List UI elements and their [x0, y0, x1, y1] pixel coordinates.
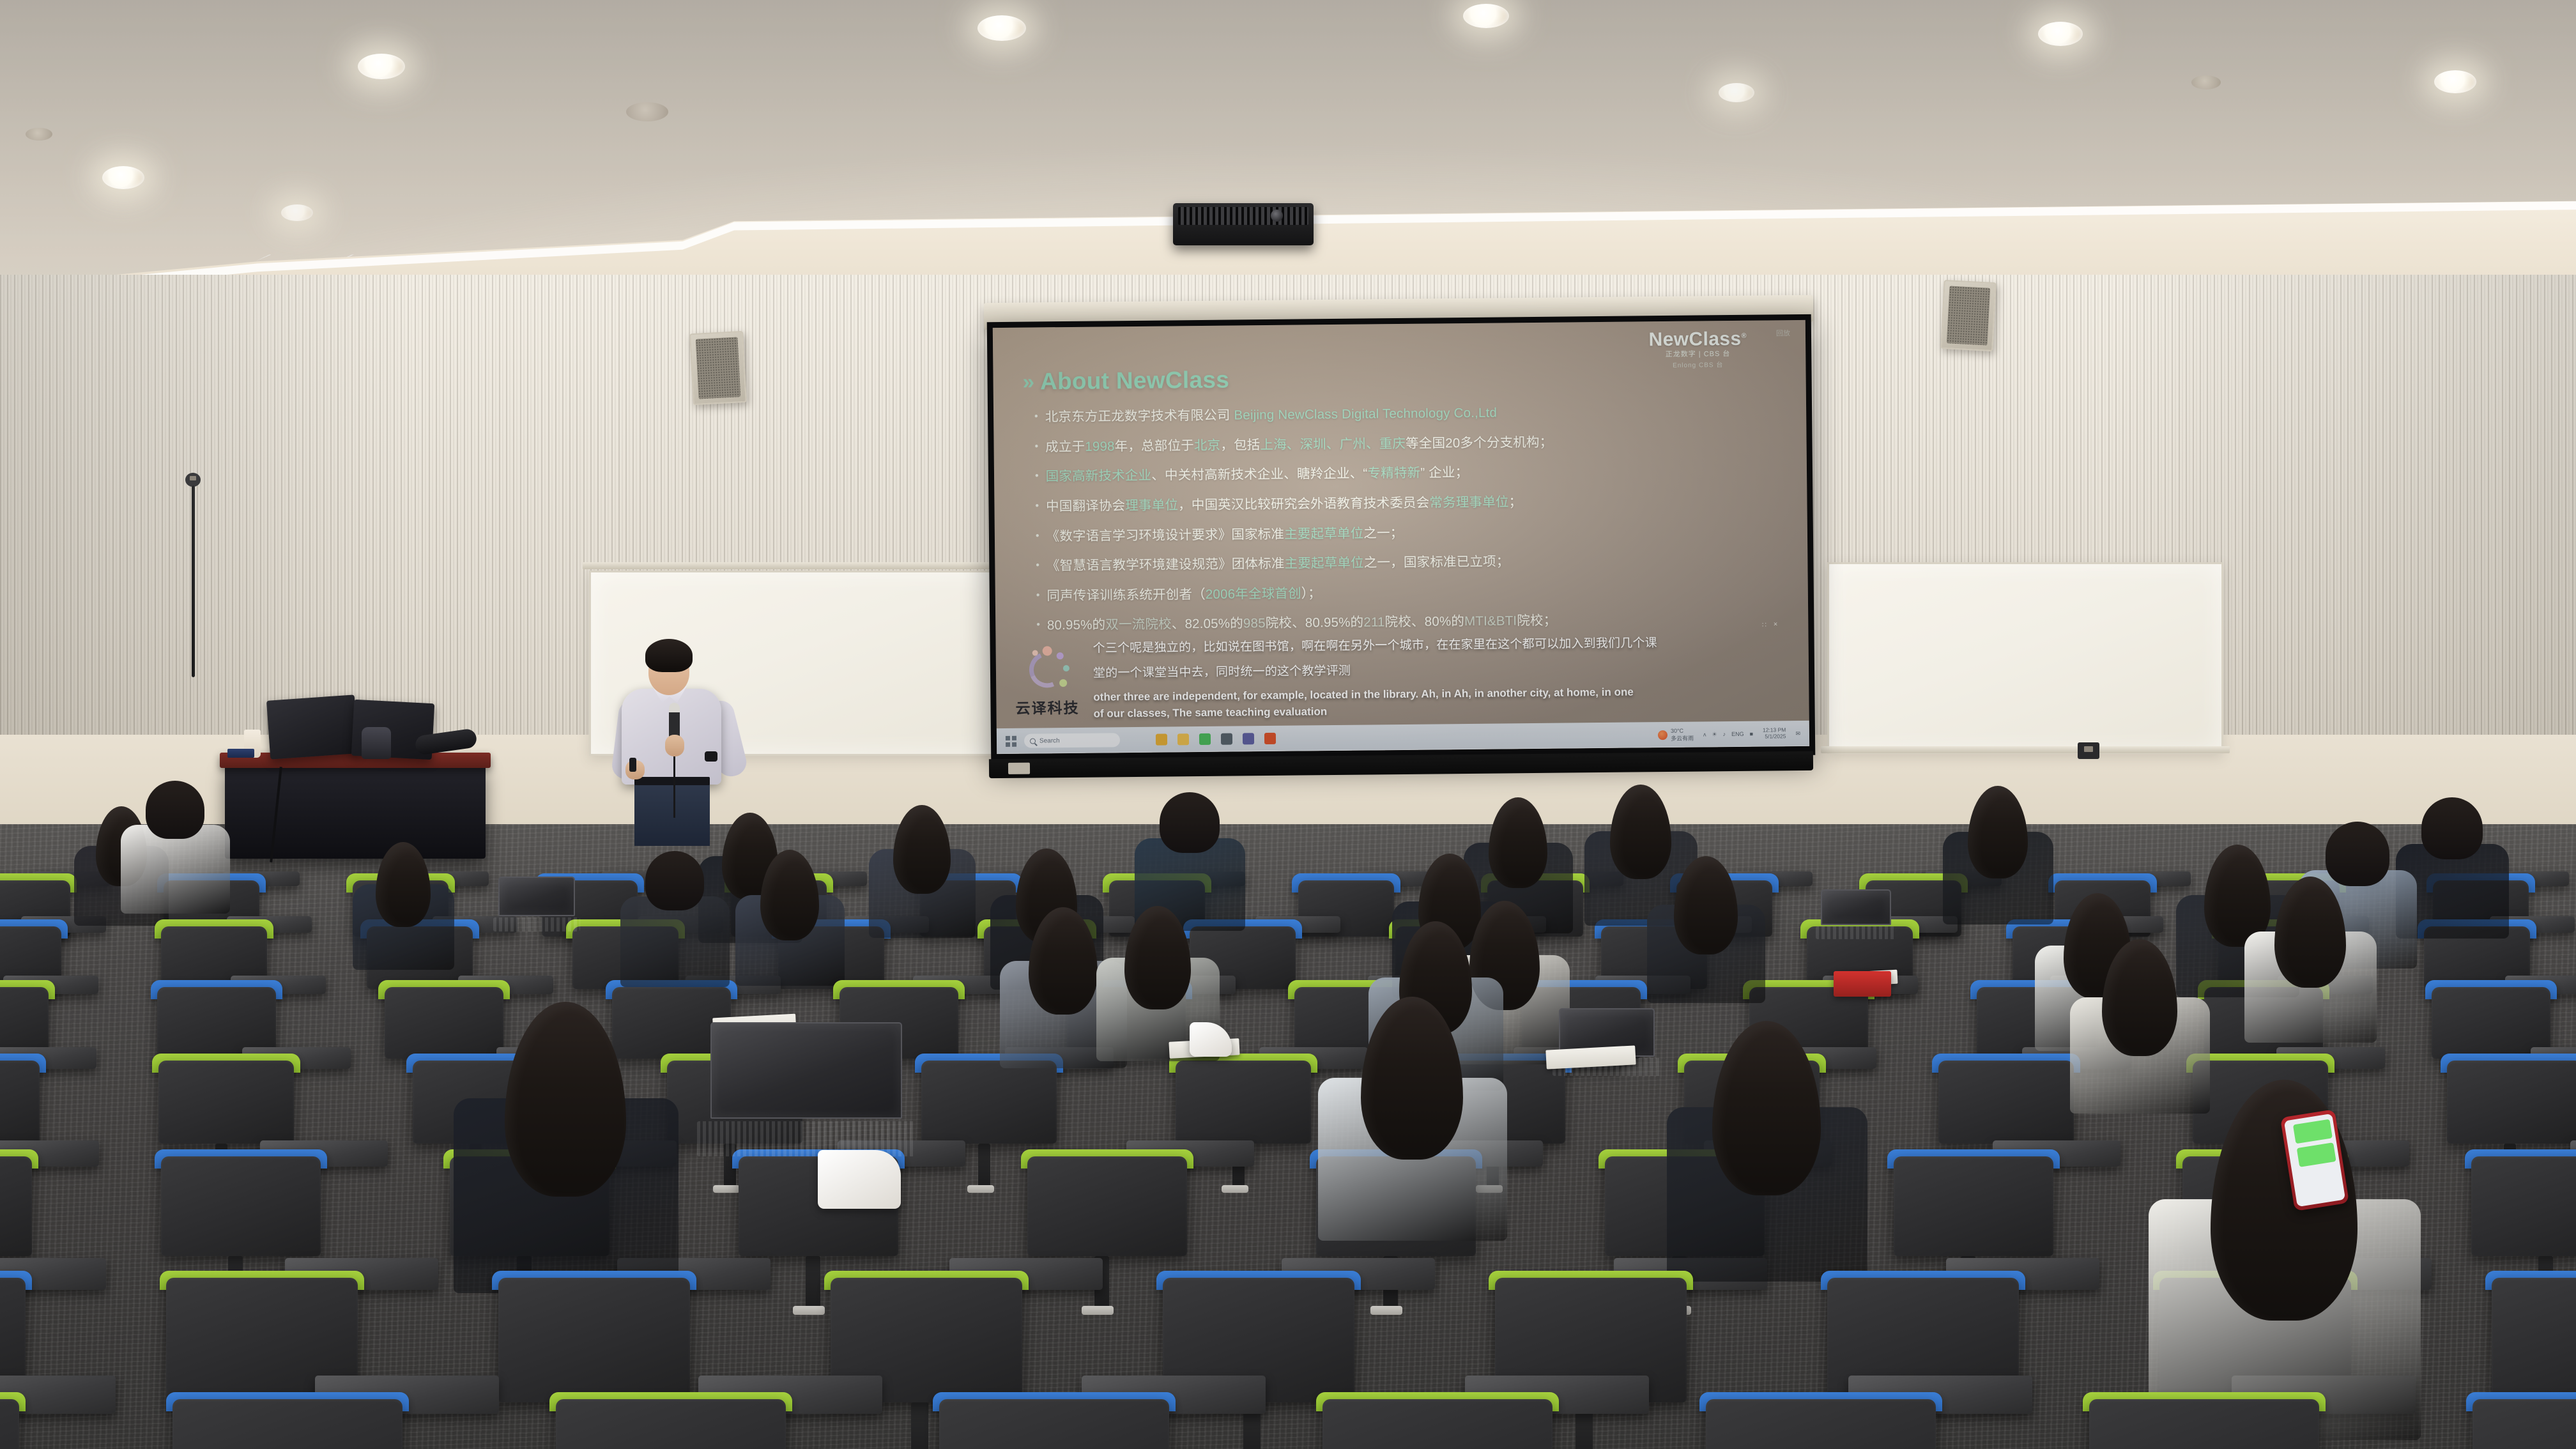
- ceiling-vent-icon: [2191, 75, 2221, 89]
- subtitle-chinese-line-1: 个三个呢是独立的，比如说在图书馆，啊在啊在另外一个城市，在在家里在这个都可以加入…: [1093, 633, 1795, 657]
- watermark-ring-icon: [1023, 646, 1071, 694]
- presenter-trousers: [634, 779, 710, 846]
- seat-back: [0, 1156, 32, 1256]
- newclass-logo: NewClass® 正龙数字 | CBS 台 Enlong CBS 台: [1648, 330, 1747, 369]
- laptop-screen[interactable]: [1821, 889, 1891, 925]
- lecture-seat[interactable]: [2471, 1156, 2576, 1256]
- taskbar-search-input[interactable]: Search: [1024, 733, 1120, 747]
- downlight-icon: [281, 204, 313, 221]
- seat-back: [172, 1399, 402, 1449]
- whiteboard-rail-right: [1821, 746, 2230, 753]
- seat-foot: [1222, 1185, 1248, 1193]
- audience-short-hair: [1160, 792, 1220, 853]
- chat-bubble: [2293, 1119, 2333, 1144]
- wechat-icon[interactable]: [1199, 733, 1211, 745]
- lecture-seat[interactable]: [556, 1399, 786, 1449]
- ceiling-projector: [1173, 203, 1314, 245]
- wall-speaker-right: [1940, 280, 1997, 351]
- tissue-pack: [818, 1150, 901, 1209]
- lecture-seat[interactable]: [0, 1156, 32, 1256]
- lecture-seat[interactable]: [498, 1278, 690, 1402]
- student-laptop[interactable]: [1821, 889, 1891, 939]
- presenter-hair: [645, 639, 693, 672]
- seat-back: [161, 1156, 321, 1256]
- slide-bullet: •《数字语言学习环境设计要求》国家标准主要起草单位之一；: [1036, 521, 1791, 545]
- slide-bullet: •国家高新技术企业、中关村高新技术企业、瞊羚企业、“专精特新” 企业；: [1035, 461, 1790, 485]
- student-laptop[interactable]: [498, 877, 575, 931]
- seat-back: [1027, 1156, 1187, 1256]
- audience-short-hair: [2421, 797, 2483, 859]
- projection-screen[interactable]: 回放 NewClass® 正龙数字 | CBS 台 Enlong CBS 台 »…: [987, 314, 1816, 763]
- laptop-keyboard[interactable]: [1816, 926, 1896, 939]
- slide-title: About NewClass: [1040, 367, 1230, 395]
- seat-back: [1176, 1061, 1311, 1144]
- taskbar-system-tray[interactable]: ʌ ☀ ♪ ENG ■: [1703, 730, 1753, 738]
- lecture-seat[interactable]: [1894, 1156, 2053, 1256]
- seat-back: [385, 987, 503, 1059]
- lecture-seat[interactable]: [0, 1061, 40, 1144]
- presenter-wristwatch: [705, 751, 717, 762]
- logo-registered-icon: ®: [1741, 332, 1747, 340]
- bullet-dot-icon: •: [1035, 441, 1039, 452]
- logo-wordmark: NewClass®: [1648, 330, 1747, 349]
- wall-camera-mount: [185, 473, 201, 487]
- marker-tray-block: [2078, 742, 2099, 759]
- bullet-dot-icon: •: [1036, 590, 1040, 601]
- windows-start-icon[interactable]: [1006, 735, 1016, 746]
- laptop-screen[interactable]: [710, 1022, 902, 1119]
- slide-bullet: •《智慧语言教学环境建设规范》团体标准主要起草单位之一，国家标准已立项；: [1036, 551, 1791, 574]
- phone-chat-screen[interactable]: [2284, 1114, 2345, 1207]
- browser-icon[interactable]: [1264, 733, 1276, 744]
- seat-pedestal: [978, 1144, 990, 1190]
- seat-foot: [1370, 1306, 1402, 1315]
- slide-bullet-text: 80.95%的双一流院校、82.05%的985院校、80.95%的211院校、8…: [1047, 613, 1557, 634]
- presentation-clicker: [629, 758, 636, 772]
- bullet-dot-icon: •: [1036, 561, 1039, 571]
- teams-icon[interactable]: [1243, 733, 1254, 744]
- ceiling-vent-icon: [626, 102, 668, 121]
- seat-foot: [967, 1185, 994, 1193]
- close-icon[interactable]: ×: [1774, 620, 1778, 628]
- bullet-dot-icon: •: [1036, 531, 1039, 541]
- downlight-icon: [358, 54, 405, 79]
- presenter: [610, 639, 744, 843]
- wall-speaker-left: [689, 331, 747, 405]
- seat-back: [2089, 1399, 2319, 1449]
- ceiling-smoke-detector-icon: [26, 128, 52, 141]
- slide-bullet-text: 同声传译训练系统开创者（2006年全球首创）；: [1046, 585, 1321, 604]
- seat-back: [2472, 1399, 2576, 1449]
- lecture-seat[interactable]: [939, 1399, 1169, 1449]
- lecture-seat[interactable]: [0, 1399, 19, 1449]
- whiteboard-right: [1827, 562, 2223, 754]
- windows-taskbar[interactable]: Search 30°C 多云有雨 ʌ ☀: [997, 721, 1809, 754]
- seat-back: [0, 1399, 19, 1449]
- seat-back: [2492, 1278, 2576, 1402]
- lecture-seat[interactable]: [161, 1156, 321, 1256]
- notification-bell-icon[interactable]: ✉: [1795, 730, 1800, 737]
- slide-bullet-text: 成立于1998年，总部位于北京，包括上海、深圳、广州、重庆等全国20多个分支机构…: [1045, 434, 1552, 455]
- slide-bullet-text: 《智慧语言教学环境建设规范》团体标准主要起草单位之一，国家标准已立项；: [1046, 554, 1510, 575]
- bullet-dot-icon: •: [1035, 501, 1039, 511]
- weather-temperature: 30°C: [1671, 727, 1683, 733]
- projector-lens-icon: [1271, 210, 1283, 222]
- seat-back: [2447, 1061, 2576, 1144]
- ime-indicator[interactable]: ENG: [1731, 731, 1744, 737]
- lecture-hall-photo: 回放 NewClass® 正龙数字 | CBS 台 Enlong CBS 台 »…: [0, 0, 2576, 1449]
- network-icon[interactable]: ☀: [1712, 731, 1717, 738]
- audience-short-hair: [645, 851, 704, 910]
- laptop-keyboard[interactable]: [493, 917, 581, 931]
- slide-bullet-text: 中国翻译协会理事单位，中国英汉比较研究会外语教育技术委员会常务理事单位；: [1046, 494, 1522, 515]
- seat-back: [1894, 1156, 2053, 1256]
- seat-back: [158, 1061, 294, 1144]
- weather-description: 多云有雨: [1671, 735, 1694, 741]
- taskbar-clock[interactable]: 12:13 PM 5/1/2025: [1763, 727, 1786, 740]
- seat-back: [556, 1399, 786, 1449]
- seat-back: [498, 1278, 690, 1402]
- downlight-icon: [2434, 70, 2476, 93]
- search-placeholder: Search: [1039, 737, 1060, 744]
- lecture-seat[interactable]: [1176, 1061, 1311, 1144]
- live-subtitle-overlay[interactable]: ∷ × 个三个呢是独立的，比如说在图书馆，啊在啊在另外一个城市，在在家里在这个都…: [1093, 633, 1795, 722]
- audience-short-hair: [146, 781, 204, 839]
- slide-bullet: •北京东方正龙数字技术有限公司 Beijing NewClass Digital…: [1034, 402, 1790, 425]
- taskbar-weather-widget[interactable]: 30°C 多云有雨: [1658, 727, 1694, 742]
- seat-foot: [1082, 1306, 1114, 1315]
- folder-icon[interactable]: [1177, 733, 1189, 745]
- bullet-dot-icon: •: [1036, 620, 1040, 631]
- yunyi-watermark: 云译科技: [1005, 646, 1090, 718]
- slide-bullet-text: 北京东方正龙数字技术有限公司 Beijing NewClass Digital …: [1045, 405, 1498, 425]
- laptop-screen[interactable]: [498, 877, 575, 916]
- red-textbook: [1834, 971, 1891, 997]
- logo-subline-2: Enlong CBS 台: [1649, 362, 1747, 369]
- audience-short-hair: [2326, 822, 2389, 886]
- lecture-seat[interactable]: [1322, 1399, 1552, 1449]
- projector-grille: [1178, 207, 1308, 225]
- seat-back: [939, 1399, 1169, 1449]
- subtitle-overlay-controls[interactable]: ∷ ×: [1748, 619, 1777, 629]
- lectern-podium: [225, 764, 486, 859]
- bullet-dot-icon: •: [1035, 471, 1039, 482]
- slide-bullet: •中国翻译协会理事单位，中国英汉比较研究会外语教育技术委员会常务理事单位；: [1035, 491, 1790, 515]
- lecture-seat[interactable]: [172, 1399, 402, 1449]
- podium-monitor-left: [266, 694, 358, 759]
- student-laptop[interactable]: [710, 1022, 902, 1156]
- taskbar-right-zone[interactable]: 30°C 多云有雨 ʌ ☀ ♪ ENG ■ 12:13 PM: [1658, 726, 1800, 742]
- projection-screen-surface: 回放 NewClass® 正龙数字 | CBS 台 Enlong CBS 台 »…: [993, 320, 1809, 754]
- watermark-label: 云译科技: [1005, 696, 1089, 718]
- downlight-icon: [1463, 4, 1509, 28]
- battery-icon[interactable]: ■: [1750, 731, 1754, 737]
- volume-icon[interactable]: ♪: [1723, 731, 1726, 737]
- downlight-icon: [977, 15, 1026, 41]
- slide-corner-badge: 回放: [1776, 328, 1790, 338]
- bullet-dot-icon: •: [1034, 411, 1038, 422]
- file-explorer-icon[interactable]: [1156, 734, 1167, 746]
- subtitle-chinese-line-2: 堂的一个课堂当中去，同时统一的这个教学评测: [1093, 658, 1795, 682]
- slide-bullet: •同声传译训练系统开创者（2006年全球首创）；: [1036, 581, 1791, 604]
- seat-back: [1938, 1061, 2074, 1144]
- taskbar-pinned-apps[interactable]: [1156, 733, 1276, 746]
- lecture-seat[interactable]: [1938, 1061, 2074, 1144]
- clock-date: 5/1/2025: [1763, 733, 1786, 740]
- slide-bullet: •成立于1998年，总部位于北京，包括上海、深圳、广州、重庆等全国20多个分支机…: [1034, 432, 1790, 456]
- camera-pole: [192, 486, 195, 677]
- camera-icon[interactable]: [1221, 733, 1232, 745]
- conference-mic-puck: [362, 727, 391, 759]
- presentation-slide: 回放 NewClass® 正龙数字 | CBS 台 Enlong CBS 台 »…: [993, 320, 1809, 754]
- downlight-icon: [102, 166, 144, 189]
- slide-bullet: •80.95%的双一流院校、82.05%的985院校、80.95%的211院校、…: [1036, 611, 1791, 634]
- seat-back: [2471, 1156, 2576, 1256]
- weather-icon: [1658, 730, 1667, 740]
- seat-pedestal: [806, 1256, 820, 1311]
- seat-back: [921, 1061, 1057, 1144]
- seat-back: [1706, 1399, 1936, 1449]
- tray-overflow-chevron-icon[interactable]: ʌ: [1703, 731, 1706, 737]
- lecture-seat[interactable]: [921, 1061, 1057, 1144]
- lecture-seat[interactable]: [2472, 1399, 2576, 1449]
- downlight-icon: [2038, 22, 2083, 46]
- slide-bullet-text: 《数字语言学习环境设计要求》国家标准主要起草单位之一；: [1046, 525, 1403, 544]
- seat-foot: [793, 1306, 825, 1315]
- presenter-belt: [634, 777, 710, 785]
- downlight-icon: [1719, 83, 1754, 102]
- presenter-right-hand: [665, 735, 684, 756]
- podium-notebook: [227, 749, 254, 758]
- whiteboard-rail-left: [583, 562, 1004, 569]
- lecture-seat[interactable]: [2447, 1061, 2576, 1144]
- search-icon: [1030, 738, 1036, 744]
- slide-bullet-text: 国家高新技术企业、中关村高新技术企业、瞊羚企业、“专精特新” 企业；: [1046, 464, 1469, 485]
- seat-foot: [713, 1185, 740, 1193]
- chat-bubble: [2297, 1142, 2336, 1167]
- drag-handle-icon[interactable]: ∷: [1762, 620, 1767, 629]
- slide-bullet-list: •北京东方正龙数字技术有限公司 Beijing NewClass Digital…: [1034, 402, 1791, 634]
- seat-back: [0, 1061, 40, 1144]
- lecture-seat[interactable]: [2089, 1399, 2319, 1449]
- lecture-seat[interactable]: [2492, 1278, 2576, 1402]
- logo-subline-1: 正龙数字 | CBS 台: [1649, 351, 1747, 358]
- seat-pedestal: [911, 1402, 928, 1449]
- lecture-seat[interactable]: [158, 1061, 294, 1144]
- lecture-seat[interactable]: [1706, 1399, 1936, 1449]
- seat-back: [1322, 1399, 1552, 1449]
- chevron-right-icon: »: [1022, 370, 1031, 394]
- lecture-seat[interactable]: [1027, 1156, 1187, 1256]
- lecture-seat[interactable]: [385, 987, 503, 1059]
